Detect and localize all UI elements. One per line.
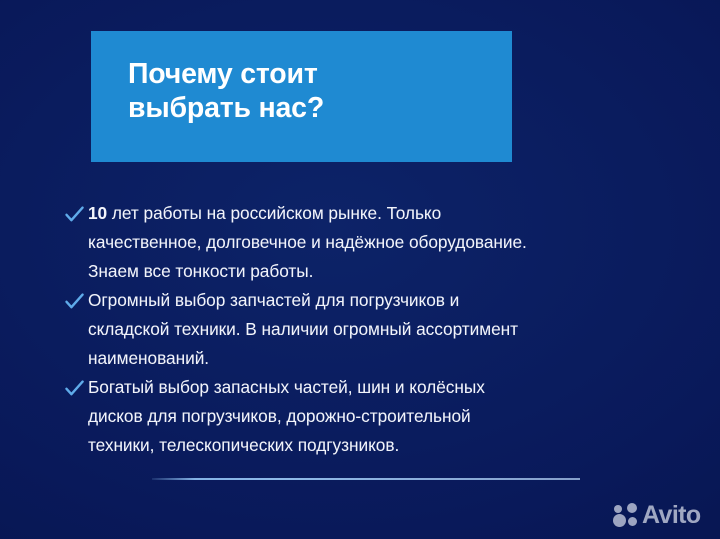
check-icon bbox=[62, 287, 88, 316]
list-item-lead: 10 bbox=[88, 203, 107, 223]
avito-dots-icon bbox=[613, 502, 641, 528]
list-item-body: лет работы на российском рынке. Только к… bbox=[88, 203, 527, 281]
list-item-text: Богатый выбор запасных частей, шин и кол… bbox=[88, 373, 687, 460]
benefits-list: 10 лет работы на российском рынке. Тольк… bbox=[62, 199, 687, 460]
list-item-body: Богатый выбор запасных частей, шин и кол… bbox=[88, 377, 485, 455]
check-icon bbox=[62, 200, 88, 229]
avito-brand-text: Avito bbox=[642, 502, 701, 528]
list-item-text: 10 лет работы на российском рынке. Тольк… bbox=[88, 199, 687, 286]
list-item-body: Огромный выбор запчастей для погрузчиков… bbox=[88, 290, 518, 368]
check-icon bbox=[62, 374, 88, 403]
page-title: Почему стоит выбрать нас? bbox=[128, 57, 498, 125]
list-item-text: Огромный выбор запчастей для погрузчиков… bbox=[88, 286, 687, 373]
title-banner: Почему стоит выбрать нас? bbox=[91, 31, 512, 162]
horizontal-divider bbox=[152, 478, 580, 480]
list-item: Богатый выбор запасных частей, шин и кол… bbox=[62, 373, 687, 460]
list-item: Огромный выбор запчастей для погрузчиков… bbox=[62, 286, 687, 373]
list-item: 10 лет работы на российском рынке. Тольк… bbox=[62, 199, 687, 286]
avito-watermark: Avito bbox=[613, 499, 709, 530]
slide-canvas: Почему стоит выбрать нас? 10 лет работы … bbox=[0, 0, 720, 539]
